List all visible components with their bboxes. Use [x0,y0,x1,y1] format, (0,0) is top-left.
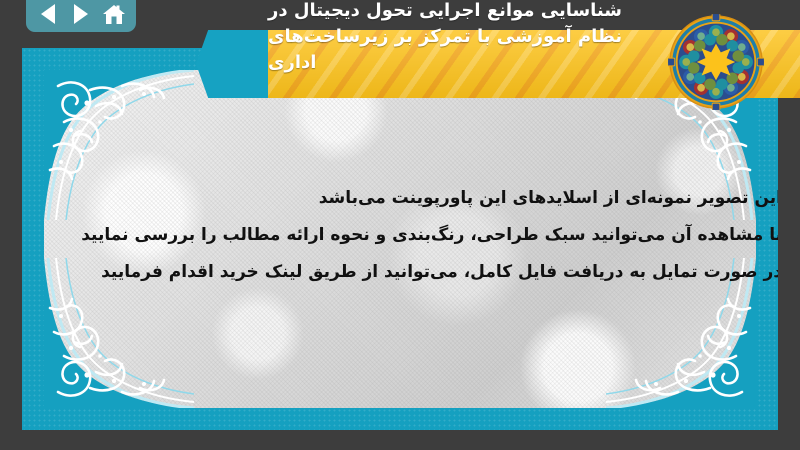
chevron-left-icon [41,4,55,24]
chevron-right-icon [74,4,88,24]
persian-star-medallion-icon [668,14,764,110]
previous-slide-button[interactable] [35,1,61,27]
slide-frame: این تصویر نمونه‌ای از اسلایدهای این پاور… [22,48,778,430]
body-line-2: با مشاهده آن می‌توانید سبک طراحی، رنگ‌بن… [82,217,778,254]
slide-viewer: این تصویر نمونه‌ای از اسلایدهای این پاور… [0,0,800,450]
home-slide-button[interactable] [101,1,127,27]
body-line-1: این تصویر نمونه‌ای از اسلایدهای این پاور… [82,180,778,217]
next-slide-button[interactable] [68,1,94,27]
body-line-3: در صورت تمایل به دریافت فایل کامل، می‌تو… [82,254,778,291]
slide-body-text: این تصویر نمونه‌ای از اسلایدهای این پاور… [82,180,778,291]
title-line-1: شناسایی موانع اجرایی تحول دیجیتال در [268,0,622,24]
home-icon [102,3,126,25]
title-ribbon-tail [196,30,272,98]
slide-navigation-bar [26,0,136,32]
